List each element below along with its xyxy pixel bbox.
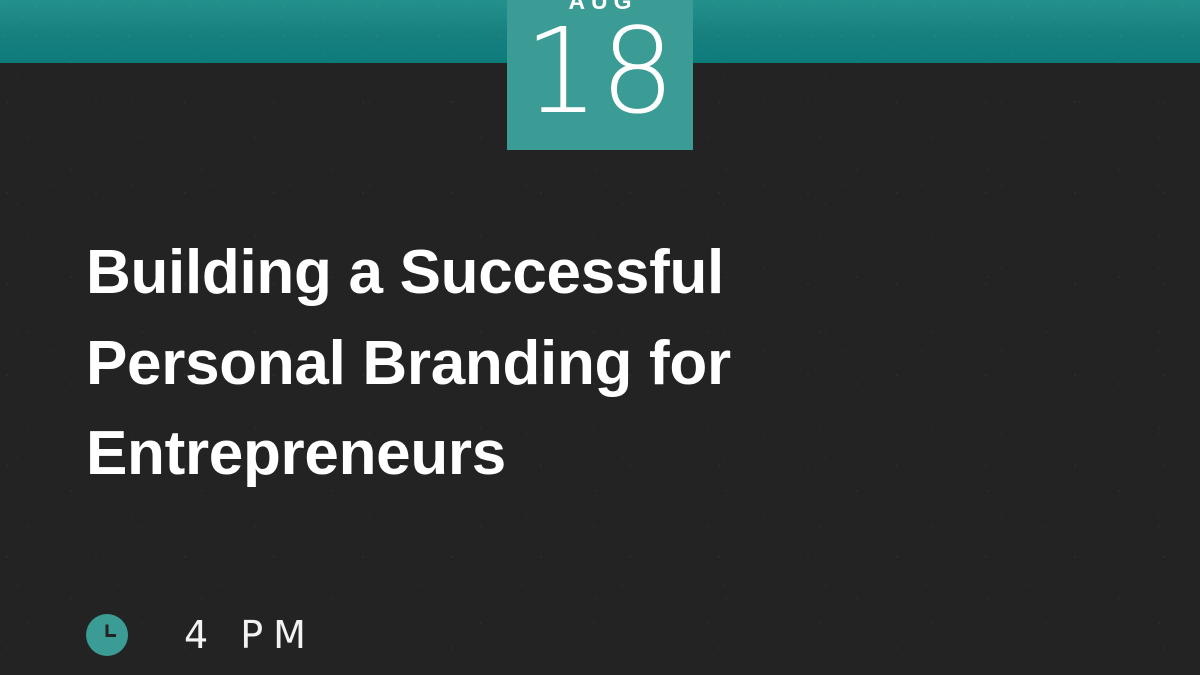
calendar-date-badge: AUG 18 xyxy=(507,0,693,150)
event-promo-card: AUG 18 Building a Successful Personal Br… xyxy=(0,0,1200,675)
event-time-row: 4 PM xyxy=(86,614,316,656)
clock-icon xyxy=(86,614,128,656)
event-time-label: 4 PM xyxy=(184,616,316,654)
date-day-label: 18 xyxy=(524,9,676,134)
page-title: Building a Successful Personal Branding … xyxy=(86,228,966,500)
